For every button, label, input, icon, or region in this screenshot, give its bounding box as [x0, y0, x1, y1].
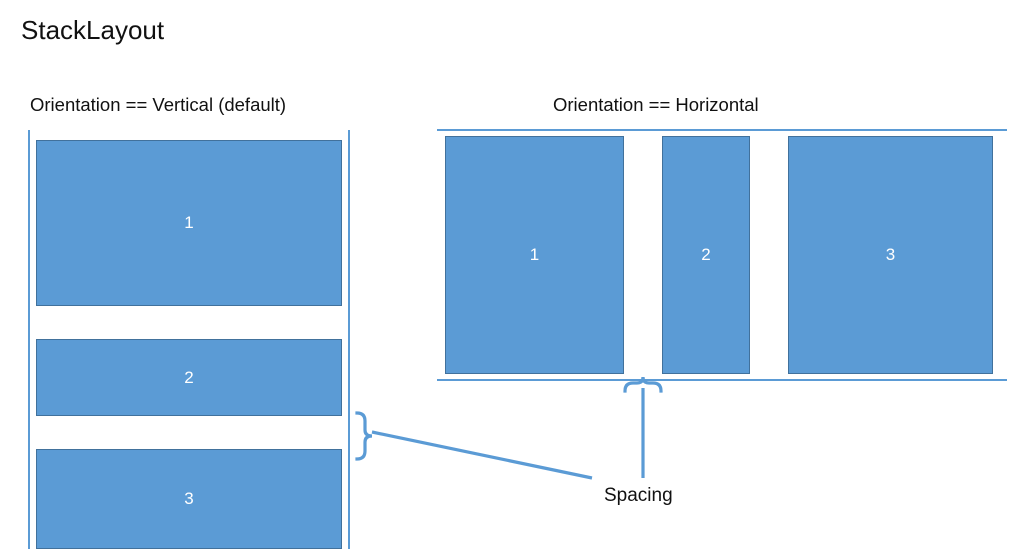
- horizontal-item-3[interactable]: 3: [788, 136, 993, 374]
- vertical-item-1[interactable]: 1: [36, 140, 342, 306]
- horizontal-item-2-label: 2: [663, 245, 749, 265]
- vertical-item-3-label: 3: [37, 489, 341, 509]
- stacklayout-diagram: StackLayout Orientation == Vertical (def…: [0, 0, 1024, 549]
- horizontal-item-1[interactable]: 1: [445, 136, 624, 374]
- vertical-item-2-label: 2: [37, 368, 341, 388]
- horizontal-container-rail-bottom: [437, 379, 1007, 381]
- vertical-item-2[interactable]: 2: [36, 339, 342, 416]
- horizontal-container-rail-top: [437, 129, 1007, 131]
- panel-caption-vertical: Orientation == Vertical (default): [30, 93, 286, 117]
- vertical-container-rail-left: [28, 130, 30, 549]
- vertical-item-3[interactable]: 3: [36, 449, 342, 549]
- vertical-container-rail-right: [348, 130, 350, 549]
- horizontal-item-2[interactable]: 2: [662, 136, 750, 374]
- page-title: StackLayout: [21, 14, 164, 46]
- vertical-spacing-brace-icon: [357, 413, 372, 459]
- panel-caption-horizontal: Orientation == Horizontal: [553, 93, 759, 117]
- horizontal-item-1-label: 1: [446, 245, 623, 265]
- horizontal-item-3-label: 3: [789, 245, 992, 265]
- vertical-spacing-leader-line: [372, 432, 592, 478]
- vertical-item-1-label: 1: [37, 213, 341, 233]
- spacing-label: Spacing: [604, 484, 673, 508]
